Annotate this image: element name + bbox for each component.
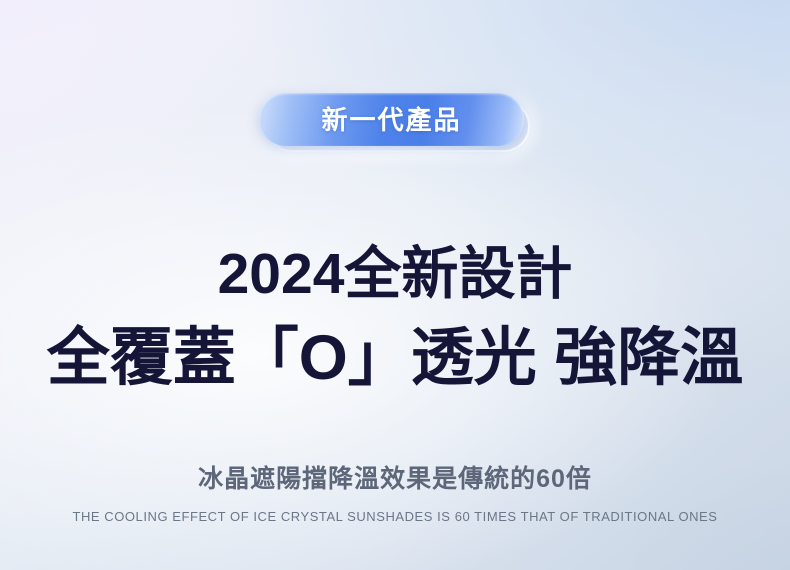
headline-line-2: 全覆蓋「O」透光 強降溫 xyxy=(0,327,790,390)
badge-container: 新一代產品 xyxy=(0,93,790,153)
badge-label: 新一代產品 xyxy=(321,107,461,133)
badge-stack: 新一代產品 xyxy=(259,93,531,153)
promo-poster: 新一代產品 2024全新設計 全覆蓋「O」透光 強降溫 冰晶遮陽擋降溫效果是傳統… xyxy=(0,0,790,570)
new-generation-badge[interactable]: 新一代產品 xyxy=(259,93,524,146)
caption-text-english: THE COOLING EFFECT OF ICE CRYSTAL SUNSHA… xyxy=(0,510,790,523)
headline-line-1: 2024全新設計 xyxy=(0,246,790,303)
poster-content: 新一代產品 2024全新設計 全覆蓋「O」透光 強降溫 冰晶遮陽擋降溫效果是傳統… xyxy=(0,0,790,570)
subtitle-text: 冰晶遮陽擋降溫效果是傳統的60倍 xyxy=(0,467,790,492)
